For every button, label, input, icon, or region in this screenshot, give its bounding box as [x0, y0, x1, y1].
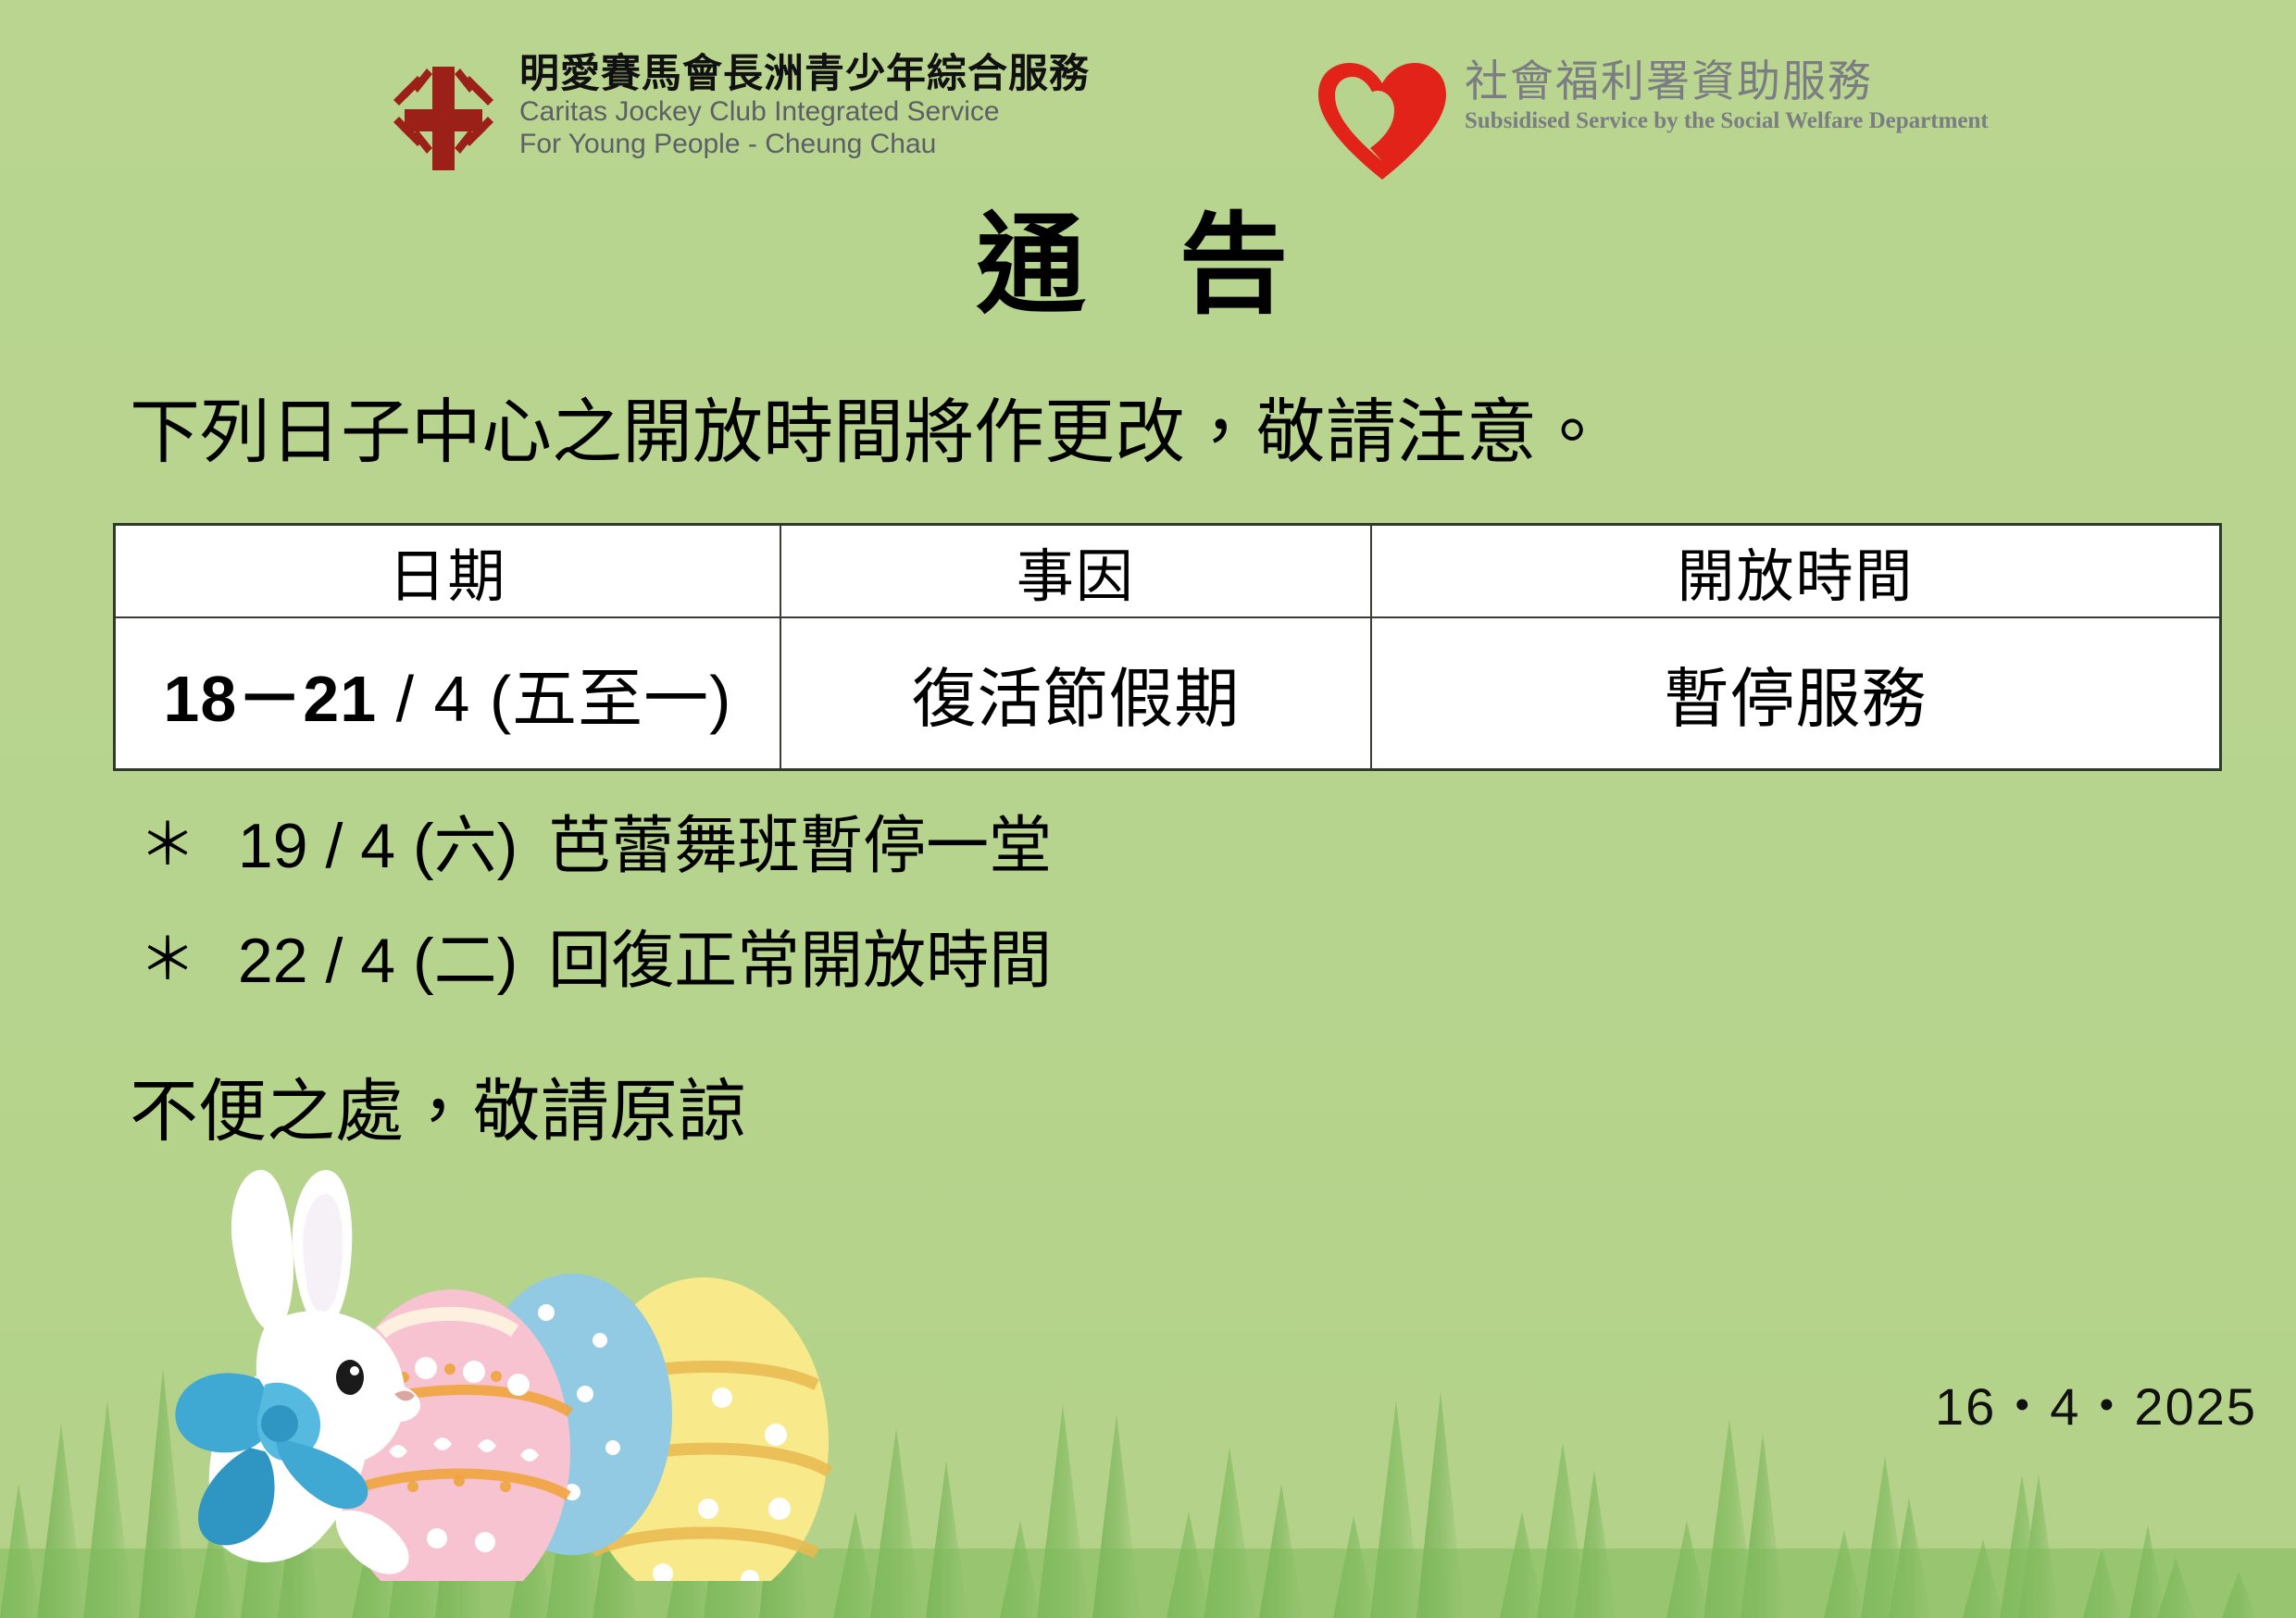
- apology-text: 不便之處，敬請原諒: [130, 1056, 746, 1155]
- intro-text: 下列日子中心之開放時間將作更改，敬請注意。: [130, 393, 2166, 472]
- swd-logo: 社會福利署資助服務 Subsidised Service by the Soci…: [1313, 59, 1989, 181]
- issue-date: 16・4・2025: [1935, 1365, 2257, 1440]
- rabbit-eye: [336, 1360, 364, 1395]
- swd-name-en: Subsidised Service by the Social Welfare…: [1465, 107, 1989, 135]
- note-text: 芭蕾舞班暫停一堂: [548, 811, 1052, 881]
- note-date: 22 / 4 (二): [238, 926, 518, 996]
- cell-date-rest: / 4 (五至一): [396, 663, 732, 735]
- caritas-logo: 明愛賽馬會長洲青少年綜合服務 Caritas Jockey Club Integ…: [384, 52, 1090, 170]
- cell-reason: 復活節假期: [780, 617, 1371, 770]
- caritas-name-en-line1: Caritas Jockey Club Integrated Service: [519, 96, 1090, 129]
- swd-name-zh: 社會福利署資助服務: [1465, 59, 1989, 107]
- grass-decoration: [0, 1313, 2296, 1618]
- blue-ribbon-bow: [175, 1373, 368, 1545]
- schedule-table: 日期 事因 開放時間 18－21 / 4 (五至一) 復活節假期 暫停服務: [113, 523, 2222, 771]
- yellow-easter-egg: [579, 1277, 830, 1581]
- column-header-date: 日期: [115, 525, 780, 618]
- blue-easter-egg: [472, 1274, 672, 1555]
- note-item: ＊ 19 / 4 (六) 芭蕾舞班暫停一堂: [139, 815, 1052, 877]
- asterisk-icon: ＊: [139, 817, 196, 875]
- asterisk-icon: ＊: [139, 932, 196, 989]
- white-rabbit: [175, 1170, 420, 1574]
- swd-logo-text: 社會福利署資助服務 Subsidised Service by the Soci…: [1465, 59, 1989, 135]
- note-date: 19 / 4 (六): [238, 811, 518, 881]
- header-logos: 明愛賽馬會長洲青少年綜合服務 Caritas Jockey Club Integ…: [0, 39, 2296, 168]
- notes-list: ＊ 19 / 4 (六) 芭蕾舞班暫停一堂 ＊ 22 / 4 (二) 回復正常開…: [139, 815, 1052, 1044]
- caritas-cross-icon: [384, 52, 503, 170]
- caritas-logo-text: 明愛賽馬會長洲青少年綜合服務 Caritas Jockey Club Integ…: [519, 52, 1090, 161]
- caritas-name-en-line2: For Young People - Cheung Chau: [519, 129, 1090, 161]
- cell-hours: 暫停服務: [1371, 617, 2221, 770]
- table-row: 18－21 / 4 (五至一) 復活節假期 暫停服務: [115, 617, 2221, 770]
- table-header-row: 日期 事因 開放時間: [115, 525, 2221, 618]
- note-text: 回復正常開放時間: [548, 926, 1052, 996]
- caritas-name-zh: 明愛賽馬會長洲青少年綜合服務: [519, 52, 1090, 96]
- column-header-hours: 開放時間: [1371, 525, 2221, 618]
- note-item: ＊ 22 / 4 (二) 回復正常開放時間: [139, 929, 1052, 992]
- pink-easter-egg: [333, 1289, 570, 1581]
- cell-date-range: 18－21: [163, 663, 377, 735]
- rabbit-nose: [394, 1390, 415, 1400]
- cell-date: 18－21 / 4 (五至一): [115, 617, 780, 770]
- column-header-reason: 事因: [780, 525, 1371, 618]
- page-title: 通 告: [0, 211, 2296, 320]
- notice-poster: 明愛賽馬會長洲青少年綜合服務 Caritas Jockey Club Integ…: [0, 0, 2296, 1618]
- bunny-and-eggs: [111, 1146, 926, 1581]
- swd-heart-icon: [1313, 59, 1452, 181]
